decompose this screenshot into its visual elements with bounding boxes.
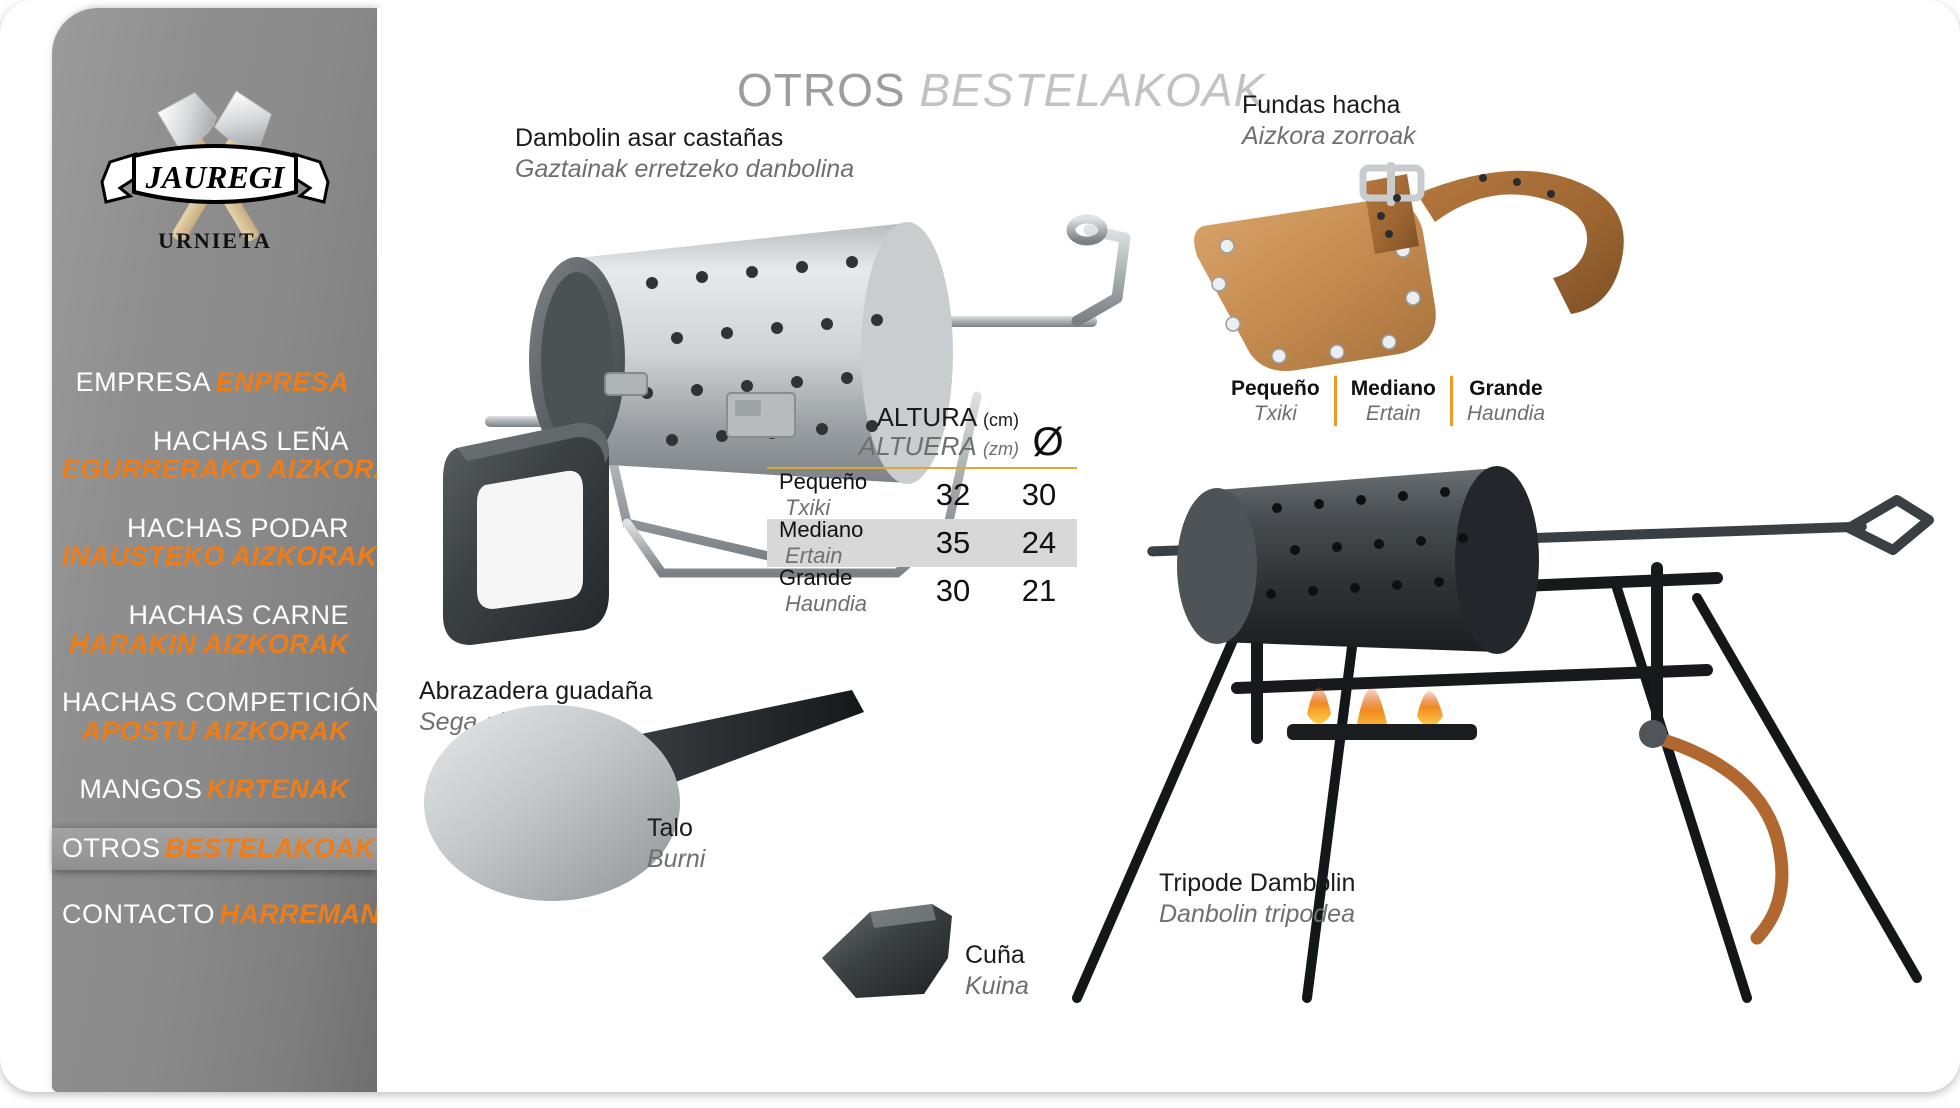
- diameter-symbol-icon: Ø: [1019, 423, 1077, 461]
- caption-talo: Talo Burni: [647, 813, 705, 874]
- logo-town-text: URNIETA: [158, 228, 272, 253]
- table-row: Mediano Ertain 35 24: [767, 519, 1077, 567]
- logo-brand-text: JAUREGI: [144, 159, 285, 195]
- product-image-tripode: [1057, 438, 1957, 1018]
- product-image-talo: [422, 668, 922, 928]
- sidebar-item-label-es: HACHAS CARNE: [62, 601, 349, 630]
- brand-logo[interactable]: JAUREGI URNIETA: [52, 70, 377, 260]
- product-image-abrazadera: [427, 393, 637, 683]
- size-legend-eu: Ertain: [1351, 401, 1436, 426]
- size-altura-value: 32: [905, 477, 1001, 513]
- size-legend-item-pequeno: Pequeño Txiki: [1217, 376, 1334, 426]
- sidebar-item-empresa[interactable]: EMPRESA ENPRESA: [52, 368, 377, 397]
- page-title: OTROS BESTELAKOAK: [737, 63, 1265, 117]
- size-legend-eu: Txiki: [1231, 401, 1320, 426]
- sidebar-item-label-eu: HARAKIN AIZKORAK: [62, 630, 349, 659]
- caption-cuna: Cuña Kuina: [965, 940, 1029, 1001]
- sidebar-item-hachas-carne[interactable]: HACHAS CARNE HARAKIN AIZKORAK: [52, 601, 377, 658]
- sidebar-item-label-eu: APOSTU AIZKORAK: [62, 717, 349, 746]
- sidebar-item-label-eu: BESTELAKOAK: [165, 833, 375, 863]
- caption-eu: Aizkora zorroak: [1242, 121, 1416, 152]
- caption-es: Talo: [647, 813, 705, 844]
- size-table-header: ALTURA (cm) ALTUERA (zm) Ø: [767, 403, 1077, 467]
- sidebar-item-mangos[interactable]: MANGOS KIRTENAK: [52, 775, 377, 804]
- sidebar-item-hachas-competicion[interactable]: HACHAS COMPETICIÓN APOSTU AIZKORAK: [52, 688, 377, 745]
- sidebar: JAUREGI URNIETA EMPRESA ENPRESA HACHAS L…: [52, 8, 377, 1092]
- sidebar-item-hachas-podar[interactable]: HACHAS PODAR INAUSTEKO AIZKORAK: [52, 514, 377, 571]
- size-altura-value: 30: [905, 573, 1001, 609]
- page-title-es: OTROS: [737, 64, 906, 116]
- size-diametro-value: 24: [1001, 525, 1077, 561]
- caption-fundas: Fundas hacha Aizkora zorroak: [1242, 90, 1416, 151]
- size-legend-item-grande: Grande Haundia: [1450, 376, 1559, 426]
- size-table-altura-es-unit: (cm): [983, 410, 1019, 430]
- caption-dambolin: Dambolin asar castañas Gaztainak erretze…: [515, 123, 854, 184]
- size-legend-eu: Haundia: [1467, 401, 1545, 426]
- sidebar-item-label-es: HACHAS LEÑA: [62, 427, 349, 456]
- size-legend-es: Pequeño: [1231, 376, 1320, 401]
- sidebar-item-hachas-lena[interactable]: HACHAS LEÑA EGURRERAKO AIZKORAK: [52, 427, 377, 484]
- caption-eu: Gaztainak erretzeko danbolina: [515, 154, 854, 185]
- sidebar-item-label-es: HACHAS COMPETICIÓN: [62, 688, 349, 717]
- sidebar-item-label-eu: HARREMANA: [219, 899, 400, 929]
- size-name-es: Mediano: [779, 517, 863, 542]
- sidebar-item-label-eu: EGURRERAKO AIZKORAK: [62, 455, 349, 484]
- size-legend: Pequeño Txiki Mediano Ertain Grande Haun…: [1217, 376, 1559, 426]
- size-diametro-value: 21: [1001, 573, 1077, 609]
- sidebar-item-label-es: MANGOS: [79, 774, 202, 804]
- caption-eu: Kuina: [965, 971, 1029, 1002]
- size-legend-es: Mediano: [1351, 376, 1436, 401]
- main-content: OTROS BESTELAKOAK: [377, 8, 1960, 1092]
- size-table-altura-es: ALTURA: [877, 402, 976, 432]
- sidebar-item-label-es: OTROS: [62, 833, 161, 863]
- sidebar-item-label-es: EMPRESA: [76, 367, 212, 397]
- caption-es: Dambolin asar castañas: [515, 123, 854, 154]
- sidebar-item-otros[interactable]: OTROS BESTELAKOAK: [52, 828, 377, 870]
- caption-es: Cuña: [965, 940, 1029, 971]
- caption-eu: Burni: [647, 844, 705, 875]
- sidebar-item-label-es: HACHAS PODAR: [62, 514, 349, 543]
- size-table-altura-eu: ALTUERA: [859, 431, 976, 461]
- sidebar-item-label-eu: ENPRESA: [216, 367, 349, 397]
- catalog-page: JAUREGI URNIETA EMPRESA ENPRESA HACHAS L…: [0, 0, 1960, 1108]
- caption-tripode: Tripode Dambolin Danbolin tripodea: [1159, 868, 1355, 929]
- sidebar-item-label-es: CONTACTO: [62, 899, 215, 929]
- sidebar-nav: EMPRESA ENPRESA HACHAS LEÑA EGURRERAKO A…: [52, 368, 377, 958]
- size-name-es: Grande: [779, 565, 852, 590]
- table-row: Grande Haundia 30 21: [767, 567, 1077, 615]
- page-card: JAUREGI URNIETA EMPRESA ENPRESA HACHAS L…: [0, 0, 1960, 1092]
- sidebar-item-contacto[interactable]: CONTACTO HARREMANA: [52, 900, 377, 929]
- caption-es: Fundas hacha: [1242, 90, 1416, 121]
- product-image-fundas: [1167, 138, 1687, 388]
- size-name-es: Pequeño: [779, 469, 867, 494]
- size-name-eu: Haundia: [779, 591, 867, 616]
- size-table: ALTURA (cm) ALTUERA (zm) Ø Pequeño: [767, 403, 1077, 615]
- table-row: Pequeño Txiki 32 30: [767, 471, 1077, 519]
- jauregi-axes-logo-icon: JAUREGI URNIETA: [90, 70, 340, 260]
- size-altura-value: 35: [905, 525, 1001, 561]
- size-table-altura-eu-unit: (zm): [983, 439, 1019, 459]
- sidebar-item-label-eu: INAUSTEKO AIZKORAK: [62, 542, 349, 571]
- caption-es: Tripode Dambolin: [1159, 868, 1355, 899]
- size-diametro-value: 30: [1001, 477, 1077, 513]
- caption-eu: Danbolin tripodea: [1159, 899, 1355, 930]
- size-legend-item-mediano: Mediano Ertain: [1334, 376, 1450, 426]
- page-title-eu: BESTELAKOAK: [919, 64, 1265, 116]
- sidebar-item-label-eu: KIRTENAK: [207, 774, 349, 804]
- size-legend-es: Grande: [1467, 376, 1545, 401]
